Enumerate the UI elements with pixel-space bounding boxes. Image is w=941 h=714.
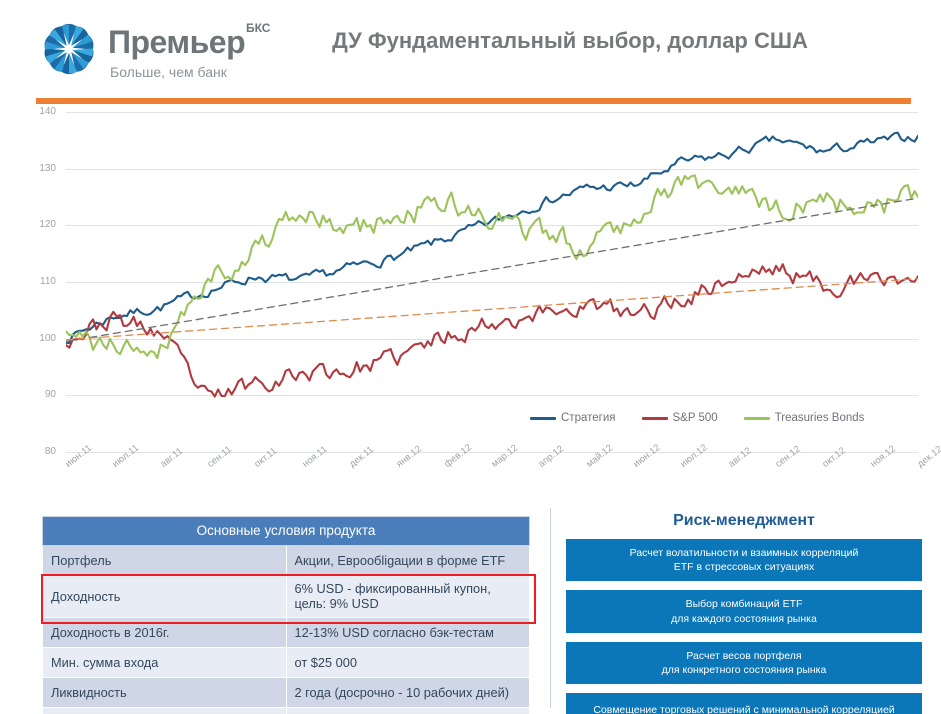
table-cell-value: 2 года (досрочно - 10 рабочих дней) xyxy=(286,678,530,708)
chart-plot-area xyxy=(66,112,918,452)
logo-tagline: Больше, чем банк xyxy=(110,64,227,80)
risk-step-line: ETF в стрессовых ситуациях xyxy=(572,560,916,574)
table-cell-key: Доходность в 2016г. xyxy=(43,618,287,648)
table-row: Ликвидность2 года (досрочно - 10 рабочих… xyxy=(43,678,530,708)
section-divider xyxy=(550,508,551,708)
page-title: ДУ Фундаментальный выбор, доллар США xyxy=(240,28,900,54)
chart-x-tick-label: дек.12 xyxy=(916,445,941,470)
chart-series-trend-orange xyxy=(66,279,918,340)
chart-y-tick-label: 130 xyxy=(22,164,56,174)
risk-step-line: Расчет волатильности и взаимных корреляц… xyxy=(572,546,916,560)
slide-root: Премьер БКС Больше, чем банк ДУ Фундамен… xyxy=(0,0,941,714)
risk-step-line: для конкретного состояния рынка xyxy=(572,663,916,677)
risk-step-box[interactable]: Совмещение торговых решений с минимально… xyxy=(566,693,922,714)
risk-step-line: Совмещение торговых решений с минимально… xyxy=(572,703,916,714)
chart-legend-item[interactable]: S&P 500 xyxy=(642,412,718,424)
chart-series- xyxy=(66,133,918,343)
chart-y-tick-label: 140 xyxy=(22,107,56,117)
chart-y-tick-label: 90 xyxy=(22,390,56,400)
legend-color-swatch-icon xyxy=(744,417,770,420)
chart-series-treasuries-bonds xyxy=(66,175,918,358)
product-conditions-table-wrap: Основные условия продукта ПортфельАкции,… xyxy=(42,516,530,714)
table-cell-value: от $25 000 xyxy=(286,648,530,678)
table-cell-key: Под управлением xyxy=(43,708,287,714)
chart-y-tick-label: 110 xyxy=(22,277,56,287)
risk-step-box[interactable]: Расчет волатильности и взаимных корреляц… xyxy=(566,539,922,581)
table-cell-key: Мин. сумма входа xyxy=(43,648,287,678)
chart-y-tick-label: 100 xyxy=(22,334,56,344)
header-accent-divider xyxy=(36,98,911,104)
logo-wordmark: Премьер xyxy=(108,26,245,58)
risk-panel-title: Риск-менеджмент xyxy=(566,512,922,530)
risk-step-line: Расчет весов портфеля xyxy=(572,649,916,663)
risk-step-box[interactable]: Расчет весов портфелядля конкретного сос… xyxy=(566,642,922,684)
chart-series-svg xyxy=(66,112,918,452)
chart-legend-item[interactable]: Стратегия xyxy=(530,412,616,424)
table-cell-key: Доходность xyxy=(43,576,287,618)
chart-y-tick-label: 120 xyxy=(22,220,56,230)
risk-step-list: Расчет волатильности и взаимных корреляц… xyxy=(566,539,922,714)
risk-step-line: Выбор комбинаций ETF xyxy=(572,597,916,611)
table-cell-value: Акции, Еврообligации в форме ETF xyxy=(286,546,530,576)
table-cell-value: $15 000 000 xyxy=(286,708,530,714)
table-cell-key: Портфель xyxy=(43,546,287,576)
table-cell-value: 12-13% USD согласно бэк-тестам xyxy=(286,618,530,648)
legend-color-swatch-icon xyxy=(530,417,556,420)
chart-legend-item[interactable]: Treasuries Bonds xyxy=(744,412,865,424)
table-row: Доходность6% USD - фиксированный купон, … xyxy=(43,576,530,618)
legend-color-swatch-icon xyxy=(642,417,668,420)
table-row: Мин. сумма входаот $25 000 xyxy=(43,648,530,678)
table-row: ПортфельАкции, Еврообligации в форме ETF xyxy=(43,546,530,576)
table-cell-key: Ликвидность xyxy=(43,678,287,708)
product-conditions-table: Основные условия продукта ПортфельАкции,… xyxy=(42,516,530,714)
table-cell-value: 6% USD - фиксированный купон, цель: 9% U… xyxy=(286,576,530,618)
risk-management-panel: Риск-менеджмент Расчет волатильности и в… xyxy=(566,512,922,714)
risk-step-box[interactable]: Выбор комбинаций ETFдля каждого состояни… xyxy=(566,590,922,632)
table-row: Под управлением$15 000 000 xyxy=(43,708,530,714)
legend-label: Стратегия xyxy=(561,412,616,424)
table-header: Основные условия продукта xyxy=(43,517,530,546)
slide-header: Премьер БКС Больше, чем банк ДУ Фундамен… xyxy=(0,0,941,92)
flower-snowflake-logo-icon xyxy=(36,16,102,82)
legend-label: S&P 500 xyxy=(673,412,718,424)
chart-y-tick-label: 80 xyxy=(22,447,56,457)
chart-series-s-p-500 xyxy=(66,264,918,396)
performance-chart: 8090100110120130140 июн.11июл.11авг.11се… xyxy=(22,112,922,502)
risk-step-line: для каждого состояния рынка xyxy=(572,612,916,626)
chart-legend: СтратегияS&P 500Treasuries Bonds xyxy=(530,412,864,424)
table-row: Доходность в 2016г.12-13% USD согласно б… xyxy=(43,618,530,648)
legend-label: Treasuries Bonds xyxy=(775,412,865,424)
